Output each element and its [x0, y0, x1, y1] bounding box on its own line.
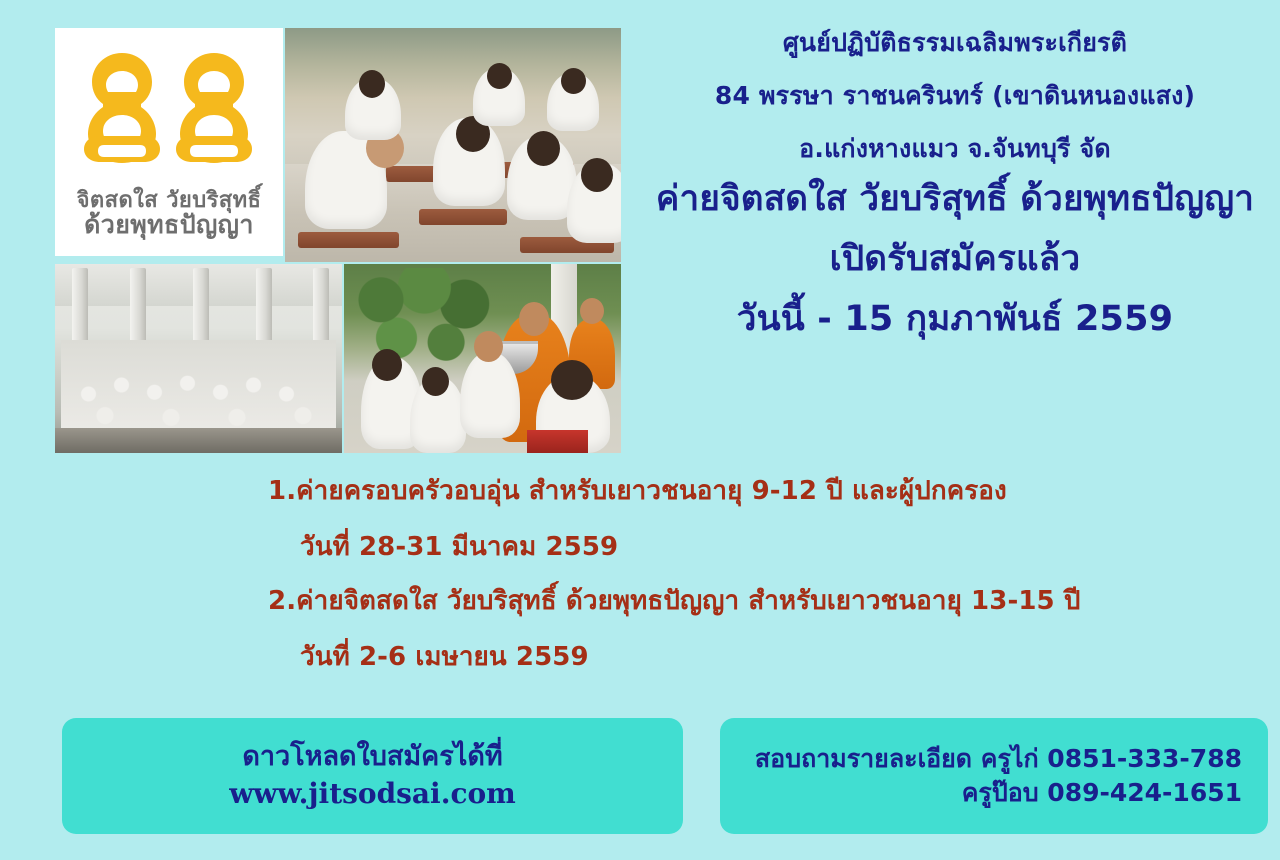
- heading-center-name: ศูนย์ปฏิบัติธรรมเฉลิมพระเกียรติ: [640, 30, 1270, 55]
- contact-phone-1: สอบถามรายละเอียด ครูไก่ 0851-333-788: [720, 742, 1242, 776]
- camp-details-list: 1.ค่ายครอบครัวอบอุ่น สำหรับเยาวชนอายุ 9-…: [0, 478, 1280, 670]
- photo-alms: [344, 264, 621, 453]
- camp-item-2-title: 2.ค่ายจิตสดใส วัยบริสุทธิ์ ด้วยพุทธปัญญา…: [0, 588, 1280, 614]
- logo-tagline-1: จิตสดใส วัยบริสุทธิ์: [77, 189, 262, 212]
- contact-phone-2: ครูป๊อบ 089-424-1651: [720, 776, 1242, 810]
- registration-open-label: เปิดรับสมัครแล้ว: [640, 241, 1270, 279]
- poster-title: ค่ายจิตสดใส วัยบริสุทธิ์ ด้วยพุทธปัญญา: [640, 181, 1270, 219]
- heading-center-subtitle: 84 พรรษา ราชนครินทร์ (เขาดินหนองแสง): [640, 83, 1270, 108]
- camp-item-1-date: วันที่ 28-31 มีนาคม 2559: [0, 534, 1280, 560]
- contact-box[interactable]: สอบถามรายละเอียด ครูไก่ 0851-333-788 ครู…: [720, 718, 1268, 834]
- logo-tagline-2: ด้วยพุทธปัญญา: [84, 212, 254, 238]
- organization-logo: จิตสดใส วัยบริสุทธิ์ ด้วยพุทธปัญญา: [55, 28, 283, 256]
- registration-deadline: วันนี้ - 15 กุมภาพันธ์ 2559: [640, 301, 1270, 339]
- heading-block: ศูนย์ปฏิบัติธรรมเฉลิมพระเกียรติ 84 พรรษา…: [640, 30, 1270, 338]
- photo-collage: จิตสดใส วัยบริสุทธิ์ ด้วยพุทธปัญญา: [55, 28, 621, 453]
- poster-top-section: จิตสดใส วัยบริสุทธิ์ ด้วยพุทธปัญญา: [0, 0, 1280, 470]
- camp-item-1-title: 1.ค่ายครอบครัวอบอุ่น สำหรับเยาวชนอายุ 9-…: [0, 478, 1280, 504]
- photo-group: [55, 264, 342, 453]
- two-meditating-figures-icon: [74, 45, 264, 185]
- footer-section: ดาวโหลดใบสมัครได้ที่ www.jitsodsai.com ส…: [0, 718, 1280, 838]
- download-label: ดาวโหลดใบสมัครได้ที่: [62, 739, 683, 775]
- heading-location: อ.แก่งหางแมว จ.จันทบุรี จัด: [640, 136, 1270, 161]
- download-box[interactable]: ดาวโหลดใบสมัครได้ที่ www.jitsodsai.com: [62, 718, 683, 834]
- camp-item-2-date: วันที่ 2-6 เมษายน 2559: [0, 644, 1280, 670]
- photo-meditation: [285, 28, 621, 262]
- download-url-link[interactable]: www.jitsodsai.com: [62, 775, 683, 813]
